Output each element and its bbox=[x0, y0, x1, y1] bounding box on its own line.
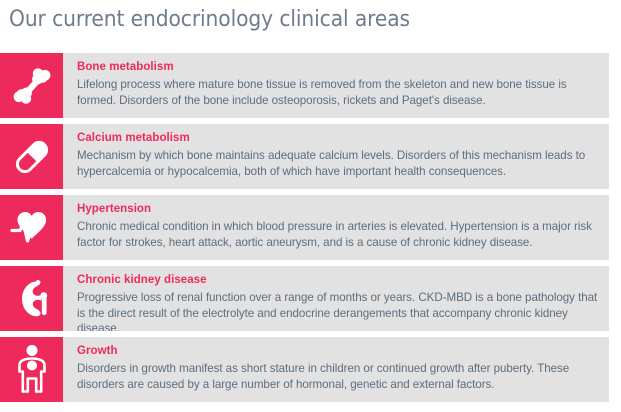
clinical-area-card[interactable]: Calcium metabolism Mechanism by which bo… bbox=[0, 124, 609, 189]
clinical-areas-page: Our current endocrinology clinical areas bbox=[0, 0, 621, 412]
clinical-area-card[interactable]: Chronic kidney disease Progressive loss … bbox=[0, 266, 609, 331]
kidney-icon bbox=[9, 276, 55, 322]
card-icon-tile bbox=[0, 195, 63, 260]
card-body: Growth Disorders in growth manifest as s… bbox=[63, 337, 609, 402]
bone-icon bbox=[9, 63, 55, 109]
card-body: Bone metabolism Lifelong process where m… bbox=[63, 53, 609, 118]
clinical-area-card[interactable]: Hypertension Chronic medical condition i… bbox=[0, 195, 609, 260]
card-icon-tile bbox=[0, 266, 63, 331]
card-icon-tile bbox=[0, 53, 63, 118]
card-description: Lifelong process where mature bone tissu… bbox=[77, 77, 599, 108]
card-description: Chronic medical condition in which blood… bbox=[77, 219, 599, 250]
card-body: Chronic kidney disease Progressive loss … bbox=[63, 266, 609, 331]
card-title: Chronic kidney disease bbox=[77, 273, 599, 288]
capsule-pill-icon bbox=[9, 134, 55, 180]
clinical-area-card[interactable]: Bone metabolism Lifelong process where m… bbox=[0, 53, 609, 118]
card-title: Hypertension bbox=[77, 202, 599, 217]
card-body: Hypertension Chronic medical condition i… bbox=[63, 195, 609, 260]
card-icon-tile bbox=[0, 124, 63, 189]
card-title: Bone metabolism bbox=[77, 60, 599, 75]
page-title: Our current endocrinology clinical areas bbox=[9, 6, 410, 32]
card-description: Progressive loss of renal function over … bbox=[77, 290, 599, 331]
clinical-area-card[interactable]: Growth Disorders in growth manifest as s… bbox=[0, 337, 609, 402]
card-body: Calcium metabolism Mechanism by which bo… bbox=[63, 124, 609, 189]
card-title: Growth bbox=[77, 344, 599, 359]
card-icon-tile bbox=[0, 337, 63, 402]
card-description: Disorders in growth manifest as short st… bbox=[77, 361, 599, 392]
card-description: Mechanism by which bone maintains adequa… bbox=[77, 148, 599, 179]
growth-person-icon bbox=[12, 344, 52, 396]
heart-pulse-icon bbox=[8, 206, 56, 250]
card-title: Calcium metabolism bbox=[77, 131, 599, 146]
clinical-areas-list: Bone metabolism Lifelong process where m… bbox=[0, 53, 610, 408]
